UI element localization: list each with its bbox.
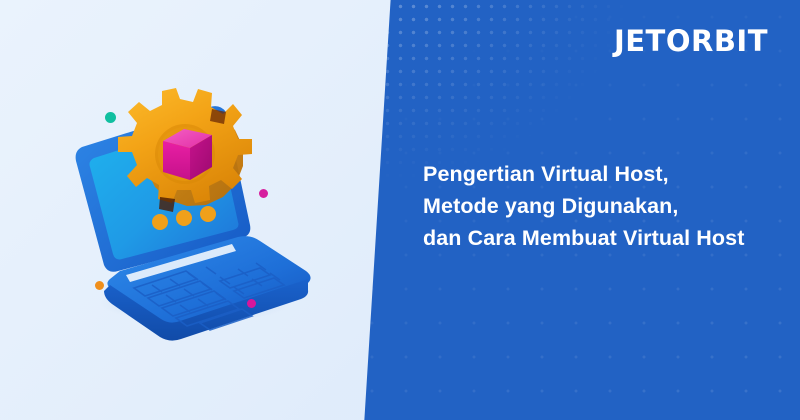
blog-banner: JETORBIT Pengertian Virtual Host, Metode… — [0, 0, 800, 420]
indicator-dot-3 — [200, 206, 216, 222]
accent-dot-magenta-right — [259, 189, 268, 198]
headline-line-3: dan Cara Membuat Virtual Host — [423, 222, 793, 254]
accent-dot-magenta-bottom — [247, 299, 256, 308]
accent-dot-orange-left — [95, 281, 104, 290]
indicator-dot-1 — [152, 214, 168, 230]
jetorbit-logo[interactable]: JETORBIT — [614, 27, 768, 56]
indicator-dot-2 — [176, 210, 192, 226]
laptop-gear-illustration — [60, 85, 320, 335]
headline: Pengertian Virtual Host, Metode yang Dig… — [423, 158, 793, 254]
headline-line-1: Pengertian Virtual Host, — [423, 158, 793, 190]
accent-dot-teal — [105, 112, 116, 123]
headline-line-2: Metode yang Digunakan, — [423, 190, 793, 222]
